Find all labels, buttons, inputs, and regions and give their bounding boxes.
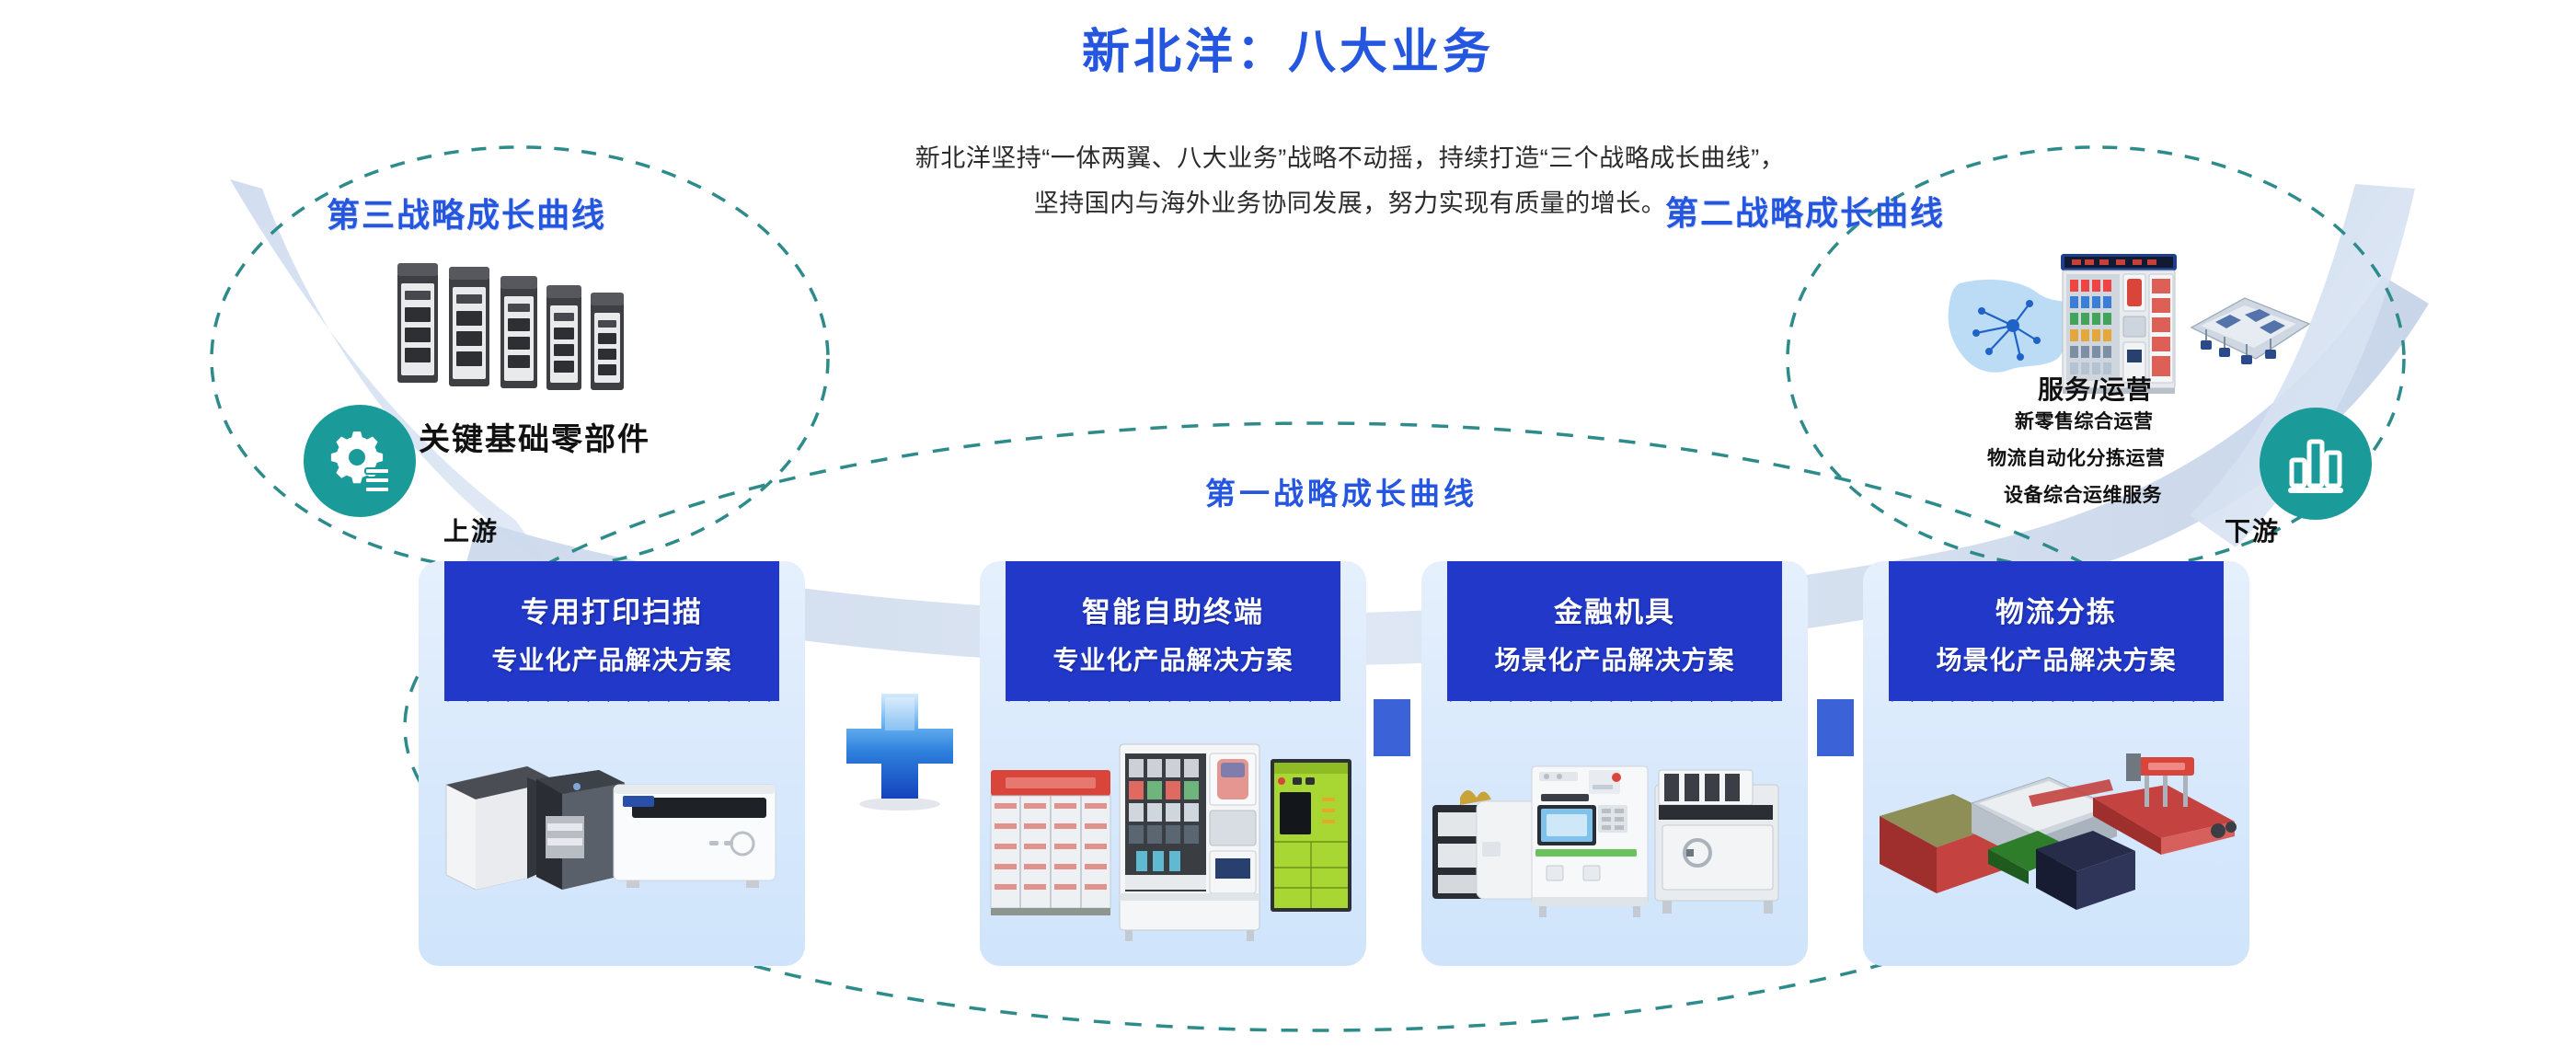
- card-header: [1889, 561, 2224, 701]
- business-card-printing-scanning[interactable]: 专用打印扫描 专业化产品解决方案: [419, 561, 805, 966]
- card-subtitle: 场景化产品解决方案: [1421, 640, 1808, 677]
- card-header: [444, 561, 779, 701]
- card-connector-bar-2: [1817, 699, 1854, 756]
- infographic-canvas: 新北洋：八大业务 新北洋坚持“一体两翼、八大业务”战略不动摇，持续打造“三个战略…: [0, 0, 2576, 1058]
- card-header: [1006, 561, 1340, 701]
- card-subtitle: 场景化产品解决方案: [1863, 640, 2249, 677]
- upstream-label: 上游: [443, 512, 499, 548]
- page-title: 新北洋：八大业务: [0, 13, 2576, 82]
- image-china-map: [1949, 280, 2080, 373]
- image-sorting-line-right: [2191, 298, 2309, 364]
- first-curve-heading: 第一战略成长曲线: [1205, 469, 1478, 513]
- card-title: 物流分拣: [1863, 589, 2249, 630]
- image-vending-kiosk-cabinets: [980, 713, 1366, 952]
- second-curve-subitem-1: 物流自动化分拣运营: [1987, 443, 2166, 471]
- image-logistics-sorting-conveyor: [1863, 713, 2249, 952]
- third-curve-caption: 关键基础零部件: [419, 414, 650, 459]
- card-subtitle: 专业化产品解决方案: [419, 640, 805, 677]
- bar-chart-icon-circle: [2260, 408, 2372, 520]
- downstream-label: 下游: [2225, 512, 2280, 548]
- image-printer-scanner-devices: [419, 713, 805, 952]
- card-title: 专用打印扫描: [419, 589, 805, 630]
- second-curve-subitem-2: 设备综合运维服务: [2004, 480, 2162, 508]
- second-curve-heading: 第二战略成长曲线: [1665, 187, 1945, 235]
- image-industrial-controller-modules: [397, 263, 624, 390]
- business-card-logistics-sorting[interactable]: 物流分拣 场景化产品解决方案: [1863, 561, 2249, 966]
- gear-settings-icon-circle: [304, 405, 416, 517]
- gear-settings-icon: [325, 426, 395, 496]
- card-title: 金融机具: [1421, 589, 1808, 630]
- card-subtitle: 专业化产品解决方案: [980, 640, 1366, 677]
- second-curve-caption: 服务/运营: [2038, 370, 2153, 407]
- image-atm-cash-handling-machines: [1421, 713, 1808, 952]
- second-curve-subitem-0: 新零售综合运营: [2015, 407, 2154, 434]
- business-card-financial-equipment[interactable]: 金融机具 场景化产品解决方案: [1421, 561, 1808, 966]
- third-curve-heading: 第三战略成长曲线: [327, 189, 606, 236]
- plus-connector-icon: [826, 681, 992, 819]
- page-description: 新北洋坚持“一体两翼、八大业务”战略不动摇，持续打造“三个战略成长曲线”，坚持国…: [906, 136, 1794, 226]
- card-title: 智能自助终端: [980, 589, 1366, 630]
- business-card-self-service-terminal[interactable]: 智能自助终端 专业化产品解决方案: [980, 561, 1366, 966]
- bar-chart-icon: [2281, 429, 2351, 499]
- card-connector-bar-1: [1374, 699, 1410, 756]
- card-header: [1447, 561, 1782, 701]
